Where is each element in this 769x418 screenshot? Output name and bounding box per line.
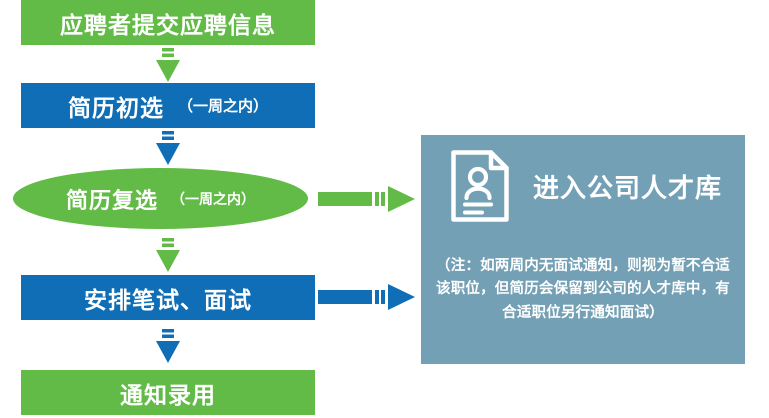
flow-node-submit-label: 应聘者提交应聘信息 [60, 6, 276, 40]
flow-node-screen1-note: （一周之内） [178, 95, 268, 116]
flow-node-submit: 应聘者提交应聘信息 [21, 0, 315, 45]
talent-pool-note: （注：如两周内无面试通知，则视为暂不合适该职位，但简历会保留到公司的人才库中，有… [435, 255, 731, 325]
recruitment-flowchart: 应聘者提交应聘信息 简历初选 （一周之内） 简历复选 （一周之内） [0, 0, 769, 418]
connector-screen2-to-interview-arrow-down-icon [152, 238, 184, 274]
talent-pool-header: 进入公司人才库 [449, 148, 722, 224]
connector-screen2-to-talent-arrow-right-icon [318, 186, 418, 212]
connector-screen1-to-screen2-arrow-down-icon [152, 131, 184, 167]
flow-node-interview: 安排笔试、面试 [21, 275, 315, 320]
connector-interview-to-talent-arrow-right-icon [318, 284, 418, 310]
flow-node-screen2: 简历复选 （一周之内） [13, 168, 308, 229]
flow-node-screen2-note: （一周之内） [171, 189, 255, 209]
flow-node-interview-label: 安排笔试、面试 [84, 281, 252, 315]
talent-pool-title: 进入公司人才库 [533, 168, 722, 205]
resume-person-document-icon [449, 148, 511, 224]
connector-interview-to-offer-arrow-down-icon [152, 329, 184, 365]
connector-submit-to-screen1-arrow-down-icon [152, 48, 184, 84]
flow-node-offer-label: 通知录用 [120, 376, 216, 410]
flow-node-screen1-label: 简历初选 [68, 89, 164, 123]
flow-node-screen2-label: 简历复选 [66, 183, 158, 215]
flow-node-screen1: 简历初选 （一周之内） [21, 83, 315, 128]
talent-pool-panel: 进入公司人才库 （注：如两周内无面试通知，则视为暂不合适该职位，但简历会保留到公… [421, 135, 745, 364]
flow-node-offer: 通知录用 [21, 370, 315, 415]
